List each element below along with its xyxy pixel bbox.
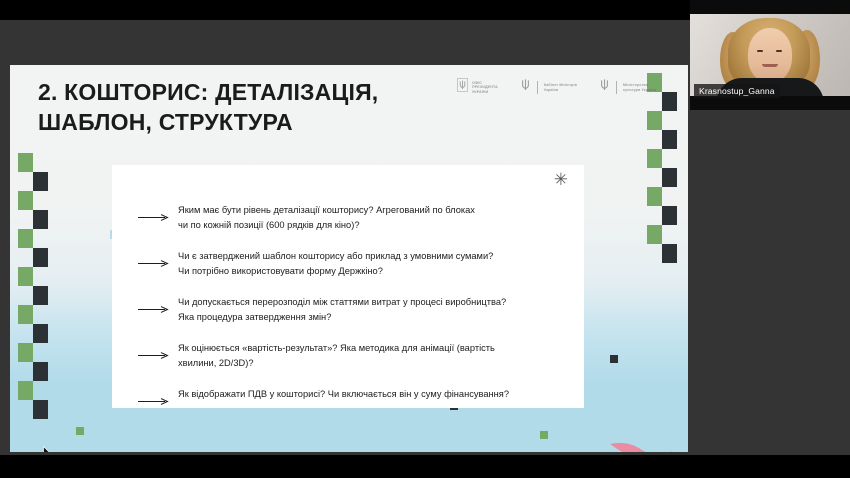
government-logos: ОФІС ПРЕЗИДЕНТА УКРАЇНИ Кабінет Міністрі… xyxy=(457,78,656,97)
question-line1: Яким має бути рівень деталізації коштори… xyxy=(178,203,475,218)
question-text: Яким має бути рівень деталізації коштори… xyxy=(178,203,475,232)
slide-title-line1: 2. КОШТОРИС: ДЕТАЛІЗАЦІЯ, xyxy=(38,77,458,107)
slide-title: 2. КОШТОРИС: ДЕТАЛІЗАЦІЯ, ШАБЛОН, СТРУКТ… xyxy=(38,77,458,137)
slide-title-line2: ШАБЛОН, СТРУКТУРА xyxy=(38,107,458,137)
question-line2: Чи потрібно використовувати форму Держкі… xyxy=(178,264,493,279)
question-line2: чи по кожній позиції (600 рядків для кін… xyxy=(178,218,475,233)
logo-label: Кабінет Міністрів України xyxy=(544,83,577,92)
question-text: Як відображати ПДВ у кошторисі? Чи включ… xyxy=(178,387,509,402)
brand-logo: ТИСЯЧОВЕСНА ГОЛОВНА ПОДІЯ ПРО КУЛЬТУРУ xyxy=(602,438,680,452)
list-item: Як оцінюється «вартість-результат»? Яка … xyxy=(138,341,570,370)
decor-square xyxy=(540,431,548,439)
question-line1: Як відображати ПДВ у кошторисі? Чи включ… xyxy=(178,387,509,402)
logo-divider xyxy=(616,81,617,94)
list-item: Чи є затверджений шаблон кошторису або п… xyxy=(138,249,570,278)
tryzub-icon xyxy=(599,78,610,97)
list-item: Як відображати ПДВ у кошторисі? Чи включ… xyxy=(138,387,570,410)
logo-ministry-of-culture: Міністерство культури України xyxy=(599,78,656,97)
decor-square xyxy=(76,427,84,435)
list-item: Яким має бути рівень деталізації коштори… xyxy=(138,203,570,232)
question-line2: хвилини, 2D/3D)? xyxy=(178,356,495,371)
screen-root: 2. КОШТОРИС: ДЕТАЛІЗАЦІЯ, ШАБЛОН, СТРУКТ… xyxy=(0,0,850,478)
arrow-right-icon xyxy=(138,295,169,318)
arrow-right-icon xyxy=(138,341,169,364)
question-text: Чи є затверджений шаблон кошторису або п… xyxy=(178,249,493,278)
tryzub-icon xyxy=(520,78,531,97)
logo-label: Міністерство культури України xyxy=(623,83,656,92)
decor-column-right xyxy=(647,65,665,452)
questions-card: ✳ Яким має бути рівень деталізації кошто… xyxy=(112,165,584,408)
question-line2: Яка процедура затвердження змін? xyxy=(178,310,506,325)
asterisk-icon: ✳ xyxy=(554,171,568,188)
arrow-right-icon xyxy=(138,387,169,410)
arrow-right-icon xyxy=(138,249,169,272)
question-line1: Як оцінюється «вартість-результат»? Яка … xyxy=(178,341,495,356)
question-text: Чи допускається перерозподіл між статтям… xyxy=(178,295,506,324)
swallow-bird-icon xyxy=(608,438,674,452)
mouse-cursor xyxy=(43,446,54,452)
logo-office-of-the-president: ОФІС ПРЕЗИДЕНТА УКРАЇНИ xyxy=(457,78,498,97)
list-item: Чи допускається перерозподіл між статтям… xyxy=(138,295,570,324)
tryzub-icon xyxy=(457,78,468,97)
question-text: Як оцінюється «вартість-результат»? Яка … xyxy=(178,341,495,370)
logo-divider xyxy=(537,81,538,94)
participant-name-label: Krasnostup_Ganna xyxy=(694,84,780,98)
mouth xyxy=(762,64,778,67)
question-line1: Чи є затверджений шаблон кошторису або п… xyxy=(178,249,493,264)
face xyxy=(748,28,792,82)
participant-video-tile[interactable]: Krasnostup_Ganna xyxy=(690,0,850,110)
questions-list: Яким має бути рівень деталізації коштори… xyxy=(138,203,570,427)
logo-label: ОФІС ПРЕЗИДЕНТА УКРАЇНИ xyxy=(472,81,498,95)
logo-cabinet-of-ministers: Кабінет Міністрів України xyxy=(520,78,577,97)
question-line1: Чи допускається перерозподіл між статтям… xyxy=(178,295,506,310)
arrow-right-icon xyxy=(138,203,169,226)
decor-square xyxy=(610,355,618,363)
presentation-slide[interactable]: 2. КОШТОРИС: ДЕТАЛІЗАЦІЯ, ШАБЛОН, СТРУКТ… xyxy=(10,65,688,452)
decor-column-left xyxy=(18,65,36,452)
